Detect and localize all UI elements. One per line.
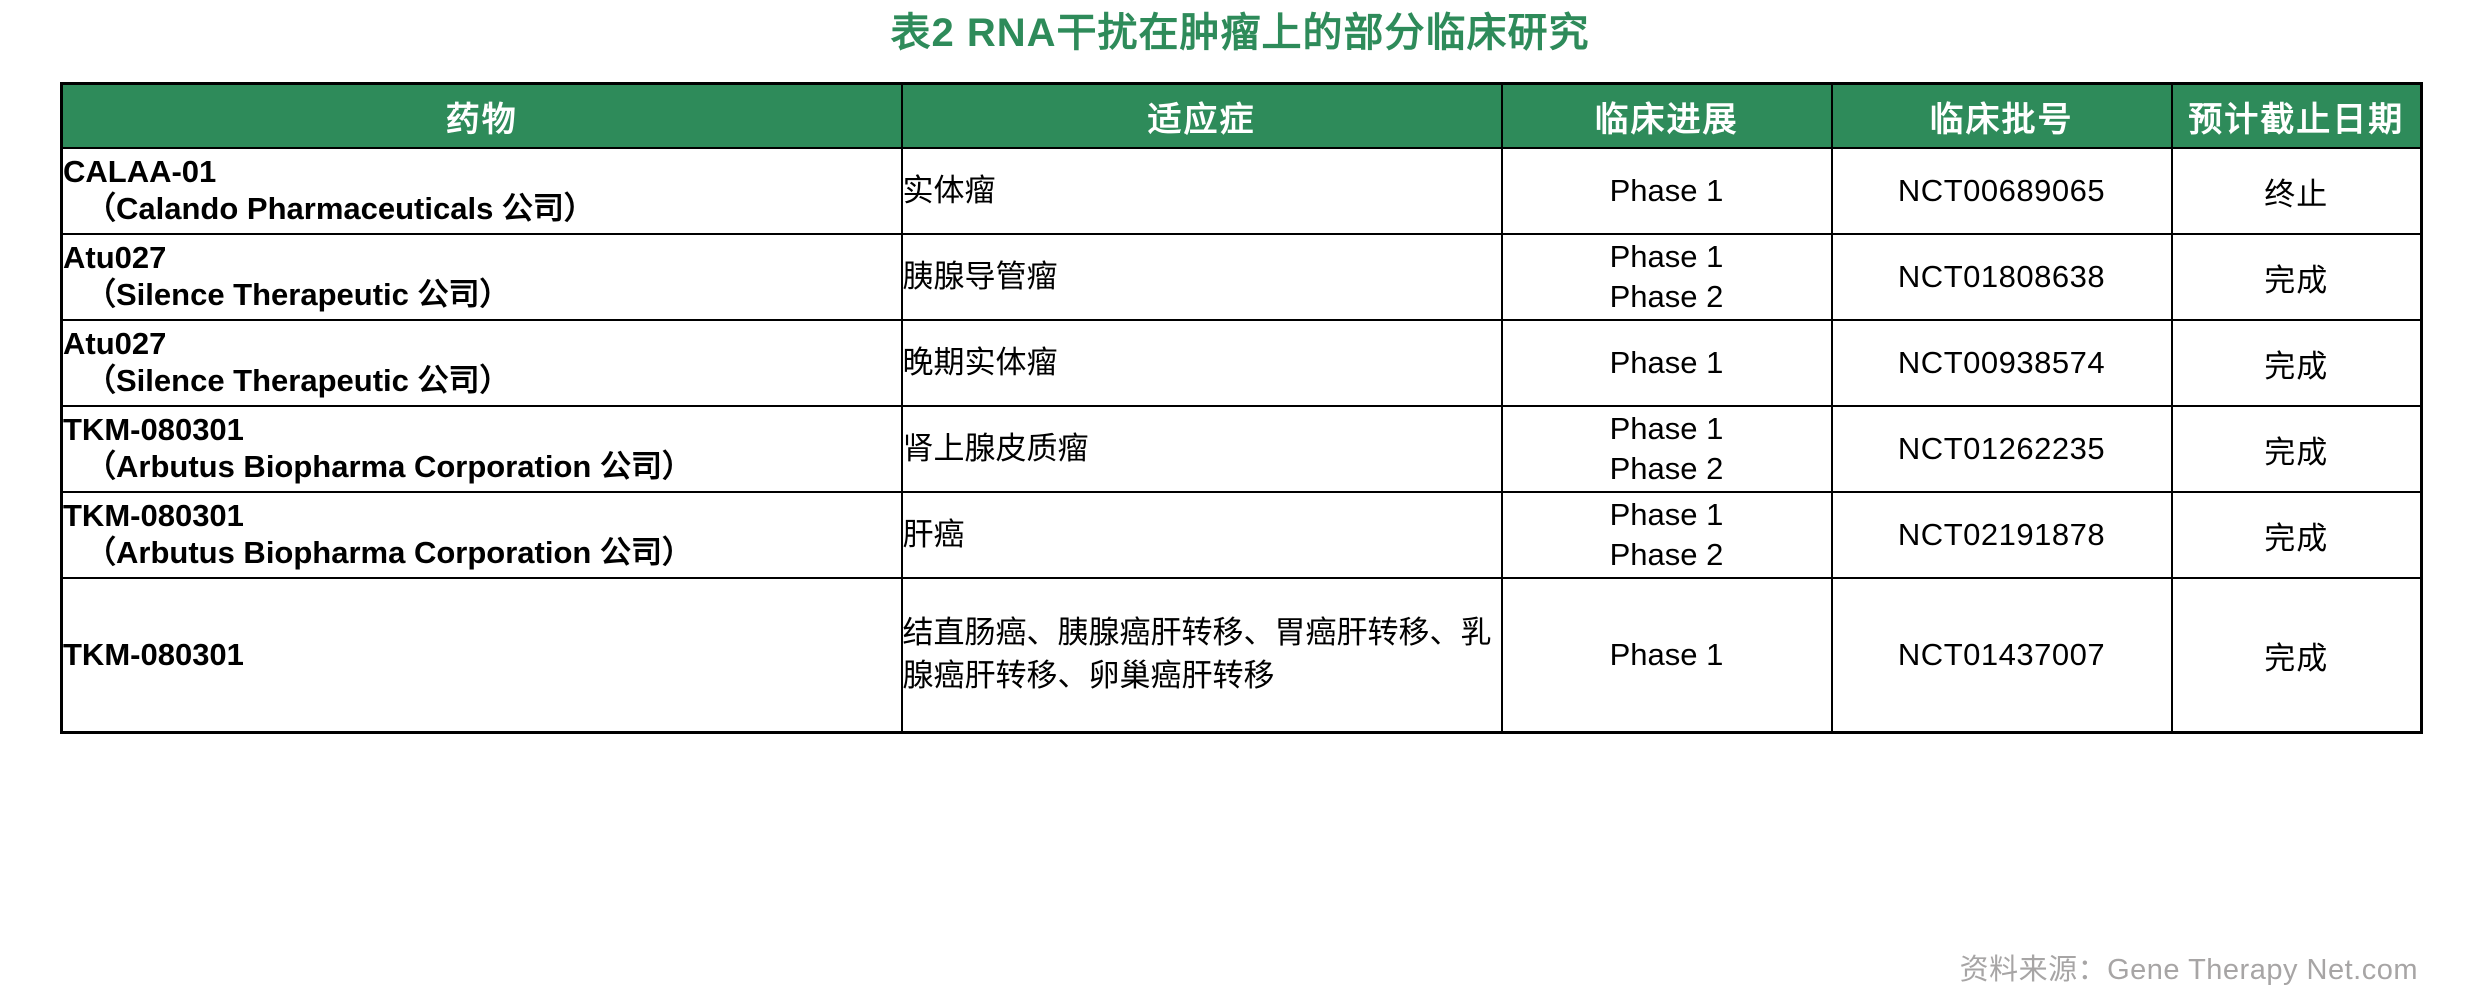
- table-header: 药物 适应症 临床进展 临床批号 预计截止日期: [62, 84, 2422, 149]
- page-title: 表2 RNA干扰在肿瘤上的部分临床研究: [0, 0, 2480, 53]
- cell-phase: Phase 1 Phase 2: [1502, 406, 1832, 492]
- drug-company: （Calando Pharmaceuticals 公司）: [63, 191, 901, 228]
- phase-line: Phase 2: [1503, 277, 1831, 317]
- cell-nct: NCT02191878: [1832, 492, 2172, 578]
- drug-company: （Silence Therapeutic 公司）: [63, 363, 901, 400]
- cell-phase: Phase 1: [1502, 578, 1832, 733]
- cell-phase: Phase 1: [1502, 148, 1832, 234]
- column-header-nct: 临床批号: [1832, 84, 2172, 149]
- cell-phase: Phase 1: [1502, 320, 1832, 406]
- cell-drug: Atu027 （Silence Therapeutic 公司）: [62, 320, 902, 406]
- drug-name: TKM-080301: [63, 498, 901, 535]
- table-row: TKM-080301 （Arbutus Biopharma Corporatio…: [62, 492, 2422, 578]
- cell-phase: Phase 1 Phase 2: [1502, 492, 1832, 578]
- drug-company: （Silence Therapeutic 公司）: [63, 277, 901, 314]
- phase-line: Phase 1: [1503, 171, 1831, 211]
- drug-name: TKM-080301: [63, 412, 901, 449]
- cell-drug: TKM-080301 （Arbutus Biopharma Corporatio…: [62, 492, 902, 578]
- column-header-drug: 药物: [62, 84, 902, 149]
- table-body: CALAA-01 （Calando Pharmaceuticals 公司） 实体…: [62, 148, 2422, 733]
- cell-drug: CALAA-01 （Calando Pharmaceuticals 公司）: [62, 148, 902, 234]
- cell-indication: 肝癌: [902, 492, 1502, 578]
- drug-company: （Arbutus Biopharma Corporation 公司）: [63, 449, 901, 486]
- cell-nct: NCT01262235: [1832, 406, 2172, 492]
- phase-line: Phase 2: [1503, 449, 1831, 489]
- drug-name: Atu027: [63, 326, 901, 363]
- cell-status: 完成: [2172, 492, 2422, 578]
- cell-status: 完成: [2172, 320, 2422, 406]
- column-header-indication: 适应症: [902, 84, 1502, 149]
- table-row: TKM-080301 结直肠癌、胰腺癌肝转移、胃癌肝转移、乳腺癌肝转移、卵巢癌肝…: [62, 578, 2422, 733]
- phase-line: Phase 1: [1503, 495, 1831, 535]
- cell-drug: TKM-080301 （Arbutus Biopharma Corporatio…: [62, 406, 902, 492]
- phase-line: Phase 1: [1503, 635, 1831, 675]
- cell-nct: NCT01808638: [1832, 234, 2172, 320]
- source-attribution: 资料来源：Gene Therapy Net.com: [1960, 946, 2418, 988]
- cell-phase: Phase 1 Phase 2: [1502, 234, 1832, 320]
- table-row: Atu027 （Silence Therapeutic 公司） 胰腺导管瘤 Ph…: [62, 234, 2422, 320]
- drug-company: （Arbutus Biopharma Corporation 公司）: [63, 535, 901, 572]
- clinical-trials-table: 药物 适应症 临床进展 临床批号 预计截止日期 CALAA-01 （Caland…: [60, 82, 2423, 734]
- cell-drug: TKM-080301: [62, 578, 902, 733]
- phase-line: Phase 1: [1503, 409, 1831, 449]
- cell-indication: 胰腺导管瘤: [902, 234, 1502, 320]
- table-row: CALAA-01 （Calando Pharmaceuticals 公司） 实体…: [62, 148, 2422, 234]
- column-header-phase: 临床进展: [1502, 84, 1832, 149]
- drug-name: TKM-080301: [63, 637, 901, 674]
- table-page: 表2 RNA干扰在肿瘤上的部分临床研究 药物 适应症 临床进展 临床批号 预计截…: [0, 0, 2480, 1006]
- cell-indication: 肾上腺皮质瘤: [902, 406, 1502, 492]
- cell-status: 完成: [2172, 578, 2422, 733]
- cell-indication: 晚期实体瘤: [902, 320, 1502, 406]
- table-row: TKM-080301 （Arbutus Biopharma Corporatio…: [62, 406, 2422, 492]
- cell-nct: NCT00938574: [1832, 320, 2172, 406]
- cell-nct: NCT01437007: [1832, 578, 2172, 733]
- phase-line: Phase 1: [1503, 237, 1831, 277]
- cell-status: 终止: [2172, 148, 2422, 234]
- table-header-row: 药物 适应症 临床进展 临床批号 预计截止日期: [62, 84, 2422, 149]
- drug-name: CALAA-01: [63, 154, 901, 191]
- cell-status: 完成: [2172, 406, 2422, 492]
- cell-indication: 结直肠癌、胰腺癌肝转移、胃癌肝转移、乳腺癌肝转移、卵巢癌肝转移: [902, 578, 1502, 733]
- cell-indication: 实体瘤: [902, 148, 1502, 234]
- phase-line: Phase 2: [1503, 535, 1831, 575]
- cell-nct: NCT00689065: [1832, 148, 2172, 234]
- phase-line: Phase 1: [1503, 343, 1831, 383]
- table-row: Atu027 （Silence Therapeutic 公司） 晚期实体瘤 Ph…: [62, 320, 2422, 406]
- drug-name: Atu027: [63, 240, 901, 277]
- clinical-trials-table-wrapper: 药物 适应症 临床进展 临床批号 预计截止日期 CALAA-01 （Caland…: [60, 82, 2420, 734]
- cell-status: 完成: [2172, 234, 2422, 320]
- cell-drug: Atu027 （Silence Therapeutic 公司）: [62, 234, 902, 320]
- column-header-status: 预计截止日期: [2172, 84, 2422, 149]
